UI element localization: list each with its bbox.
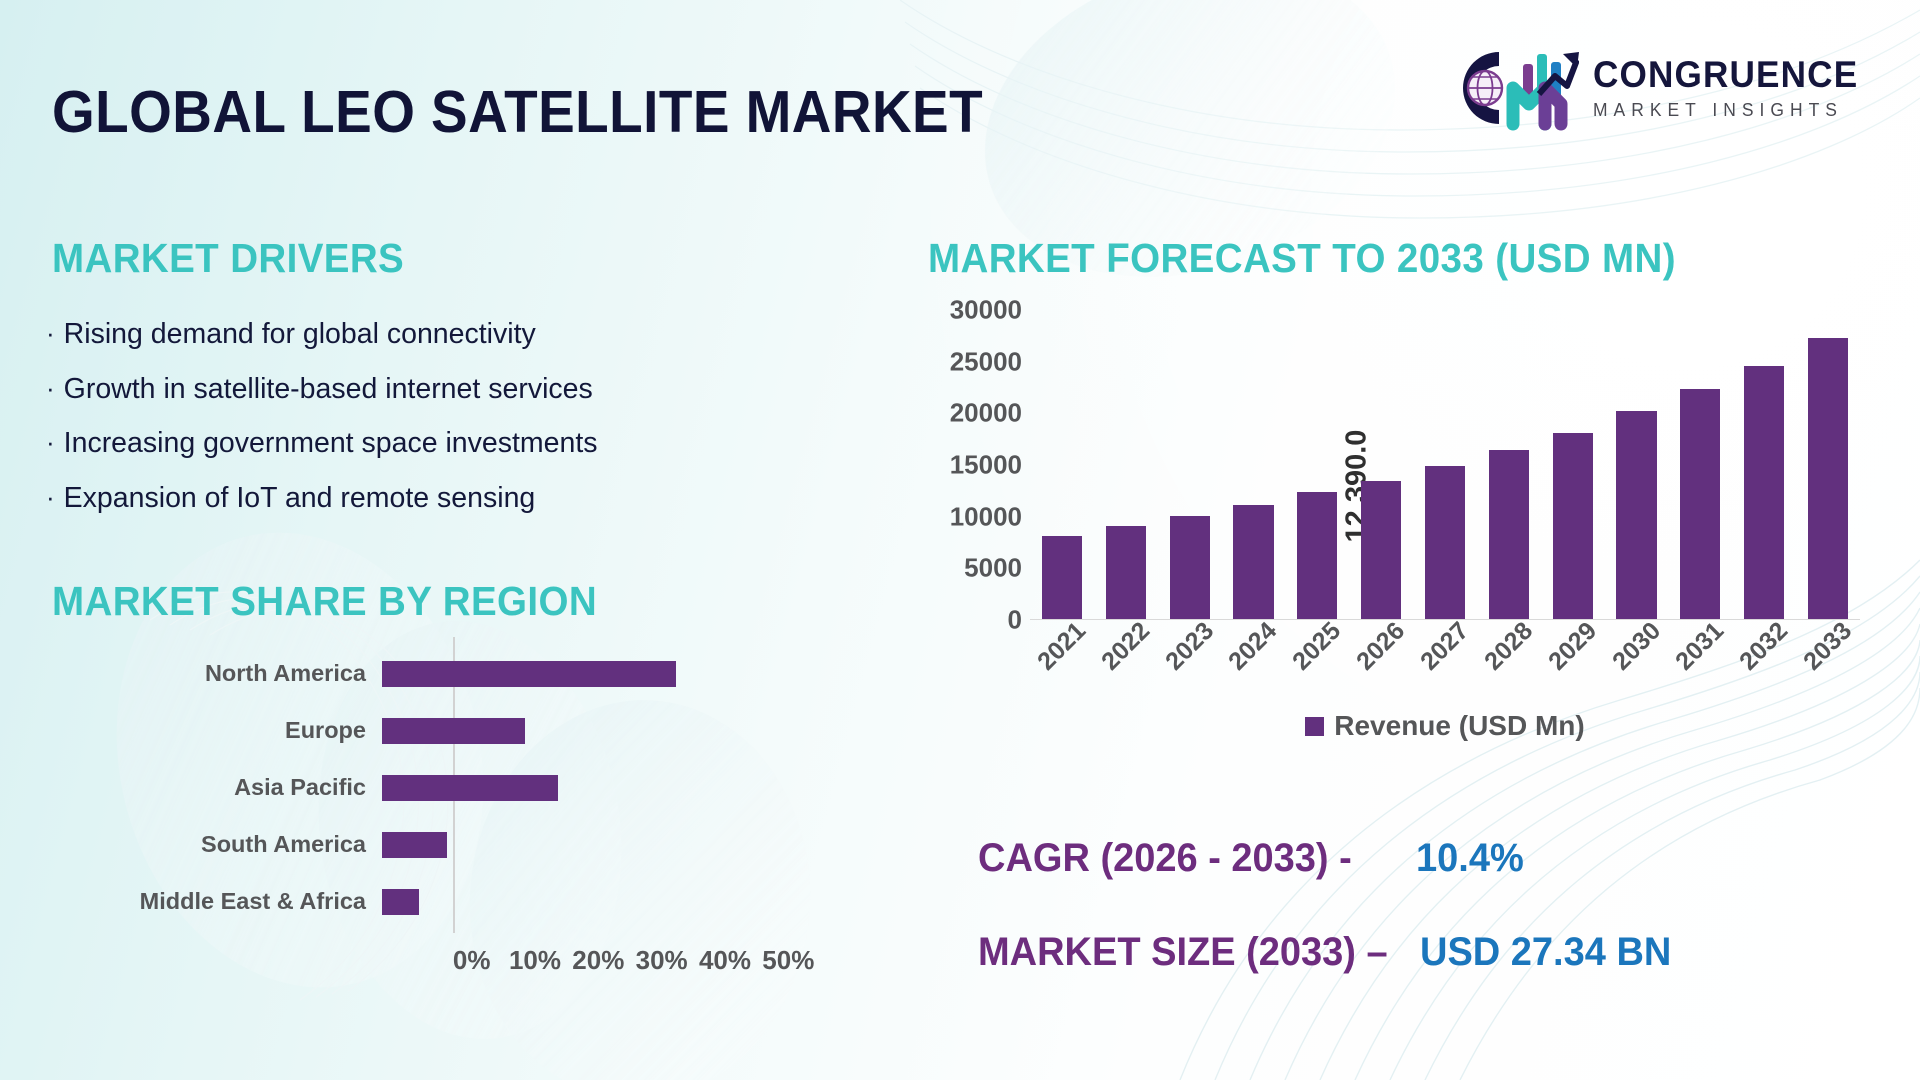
forecast-x-tick-cell: 2032 <box>1732 626 1796 696</box>
table-row <box>1489 450 1529 621</box>
region-bar <box>382 661 676 687</box>
forecast-x-tick: 2026 <box>1351 617 1411 677</box>
forecast-bar-cell <box>1605 310 1669 620</box>
table-row <box>1744 366 1784 620</box>
market-size-label: MARKET SIZE (2033) – <box>978 930 1388 975</box>
forecast-bar-cell <box>1732 310 1796 620</box>
list-item: · Rising demand for global connectivity <box>46 320 836 349</box>
region-bar-track <box>382 702 820 759</box>
forecast-bar-cell <box>1541 310 1605 620</box>
forecast-x-tick-cell: 2030 <box>1605 626 1669 696</box>
table-row: 12,390.0 <box>1297 492 1337 620</box>
forecast-bar-cell <box>1668 310 1732 620</box>
bullet-icon: · <box>46 320 55 346</box>
region-bar-rows: North AmericaEuropeAsia PacificSouth Ame… <box>60 645 820 930</box>
market-share-heading: MARKET SHARE BY REGION <box>52 578 597 625</box>
region-bar-track <box>382 759 820 816</box>
forecast-y-tick: 5000 <box>964 553 1022 584</box>
region-label: South America <box>60 831 382 858</box>
forecast-y-tick: 30000 <box>950 295 1022 326</box>
forecast-x-tick-cell: 2028 <box>1477 626 1541 696</box>
forecast-x-tick: 2027 <box>1415 617 1475 677</box>
list-item: Middle East & Africa <box>60 873 820 930</box>
forecast-x-tick-cell: 2026 <box>1349 626 1413 696</box>
forecast-x-tick: 2032 <box>1734 617 1794 677</box>
cagr-label: CAGR (2026 - 2033) - <box>978 836 1352 881</box>
logo-name: CONGRUENCE <box>1593 56 1858 93</box>
region-label: North America <box>60 660 382 687</box>
table-row <box>1553 433 1593 620</box>
forecast-y-tick: 20000 <box>950 398 1022 429</box>
brand-logo: CONGRUENCE MARKET INSIGHTS <box>1451 42 1872 134</box>
region-label: Europe <box>60 717 382 744</box>
legend-label: Revenue (USD Mn) <box>1334 710 1584 742</box>
forecast-x-tick: 2025 <box>1287 617 1347 677</box>
table-row <box>1106 526 1146 620</box>
bullet-icon: · <box>46 484 55 510</box>
forecast-chart-legend: Revenue (USD Mn) <box>1030 710 1860 742</box>
list-item: Europe <box>60 702 820 759</box>
forecast-bar-cell <box>1094 310 1158 620</box>
region-bar <box>382 775 558 801</box>
market-size-value: USD 27.34 BN <box>1420 930 1671 975</box>
forecast-x-tick: 2028 <box>1479 617 1539 677</box>
list-item: · Growth in satellite-based internet ser… <box>46 375 836 404</box>
forecast-y-tick: 25000 <box>950 346 1022 377</box>
region-bar <box>382 832 447 858</box>
forecast-x-tick-cell: 2031 <box>1668 626 1732 696</box>
forecast-bar-cell <box>1349 310 1413 620</box>
forecast-x-tick-cell: 2027 <box>1413 626 1477 696</box>
forecast-y-tick: 0 <box>1008 605 1022 636</box>
table-row <box>1680 389 1720 620</box>
forecast-y-tick: 15000 <box>950 450 1022 481</box>
forecast-bar-cell <box>1030 310 1094 620</box>
list-item: · Increasing government space investment… <box>46 429 836 458</box>
driver-text: Increasing government space investments <box>64 429 598 458</box>
forecast-x-tick: 2031 <box>1670 617 1730 677</box>
forecast-x-tick: 2030 <box>1607 617 1667 677</box>
forecast-x-tick: 2033 <box>1798 617 1858 677</box>
forecast-x-tick: 2023 <box>1160 617 1220 677</box>
forecast-bar-cell <box>1413 310 1477 620</box>
forecast-x-tick-cell: 2023 <box>1158 626 1222 696</box>
forecast-y-tick: 10000 <box>950 501 1022 532</box>
market-drivers-list: · Rising demand for global connectivity … <box>46 320 836 538</box>
region-x-tick: 40% <box>693 945 756 976</box>
driver-text: Expansion of IoT and remote sensing <box>64 484 536 513</box>
table-row <box>1616 411 1656 620</box>
region-x-tick: 30% <box>630 945 693 976</box>
logo-text: CONGRUENCE MARKET INSIGHTS <box>1593 56 1872 121</box>
region-chart-x-ticks: 0%10%20%30%40%50% <box>440 945 820 976</box>
market-size-stat: MARKET SIZE (2033) – USD 27.34 BN <box>978 930 1685 975</box>
region-bar <box>382 889 419 915</box>
forecast-chart-plot: 12,390.0 <box>1030 310 1860 620</box>
region-x-tick: 0% <box>440 945 503 976</box>
list-item: · Expansion of IoT and remote sensing <box>46 484 836 513</box>
market-share-by-region-chart: North AmericaEuropeAsia PacificSouth Ame… <box>60 645 820 980</box>
table-row <box>1361 481 1401 621</box>
legend-swatch-icon <box>1305 717 1324 736</box>
cagr-stat: CAGR (2026 - 2033) - 10.4% <box>978 836 1529 881</box>
list-item: Asia Pacific <box>60 759 820 816</box>
forecast-bar-cell <box>1796 310 1860 620</box>
list-item: South America <box>60 816 820 873</box>
forecast-chart-x-axis: 2021202220232024202520262027202820292030… <box>1030 626 1860 696</box>
driver-text: Rising demand for global connectivity <box>64 320 536 349</box>
list-item: North America <box>60 645 820 702</box>
forecast-x-tick-cell: 2029 <box>1541 626 1605 696</box>
region-x-tick: 50% <box>757 945 820 976</box>
header: GLOBAL LEO SATELLITE MARKET <box>0 0 1920 190</box>
market-forecast-heading: MARKET FORECAST TO 2033 (USD MN) <box>928 235 1676 282</box>
region-bar-track <box>382 816 820 873</box>
page-title: GLOBAL LEO SATELLITE MARKET <box>52 78 983 146</box>
forecast-bar-cell <box>1477 310 1541 620</box>
logo-subtitle: MARKET INSIGHTS <box>1593 100 1864 121</box>
bullet-icon: · <box>46 375 55 401</box>
forecast-x-tick-cell: 2021 <box>1030 626 1094 696</box>
table-row <box>1170 516 1210 620</box>
market-drivers-heading: MARKET DRIVERS <box>52 235 404 282</box>
forecast-x-tick-cell: 2033 <box>1796 626 1860 696</box>
region-x-tick: 10% <box>503 945 566 976</box>
forecast-x-tick: 2024 <box>1224 617 1284 677</box>
forecast-x-tick: 2021 <box>1032 617 1092 677</box>
table-row <box>1425 466 1465 620</box>
region-label: Middle East & Africa <box>60 888 382 915</box>
market-forecast-chart: 050001000015000200002500030000 12,390.0 … <box>930 310 1860 710</box>
cagr-value: 10.4% <box>1416 836 1524 881</box>
congruence-cm-globe-bars-logo-icon <box>1451 42 1579 134</box>
table-row <box>1808 338 1848 621</box>
forecast-bar-cell <box>1158 310 1222 620</box>
bullet-icon: · <box>46 429 55 455</box>
forecast-bars: 12,390.0 <box>1030 310 1860 620</box>
forecast-x-tick: 2022 <box>1096 617 1156 677</box>
region-label: Asia Pacific <box>60 774 382 801</box>
forecast-x-tick: 2029 <box>1543 617 1603 677</box>
forecast-x-tick-cell: 2024 <box>1222 626 1286 696</box>
table-row <box>1042 536 1082 620</box>
forecast-chart-y-axis: 050001000015000200002500030000 <box>930 310 1022 620</box>
driver-text: Growth in satellite-based internet servi… <box>64 375 593 404</box>
region-x-tick: 20% <box>567 945 630 976</box>
forecast-x-tick-cell: 2025 <box>1285 626 1349 696</box>
forecast-chart-baseline <box>1030 619 1860 621</box>
region-bar-track <box>382 873 820 930</box>
forecast-bar-cell <box>1222 310 1286 620</box>
forecast-bar-cell: 12,390.0 <box>1285 310 1349 620</box>
region-bar-track <box>382 645 820 702</box>
region-bar <box>382 718 525 744</box>
forecast-x-tick-cell: 2022 <box>1094 626 1158 696</box>
table-row <box>1233 505 1273 620</box>
